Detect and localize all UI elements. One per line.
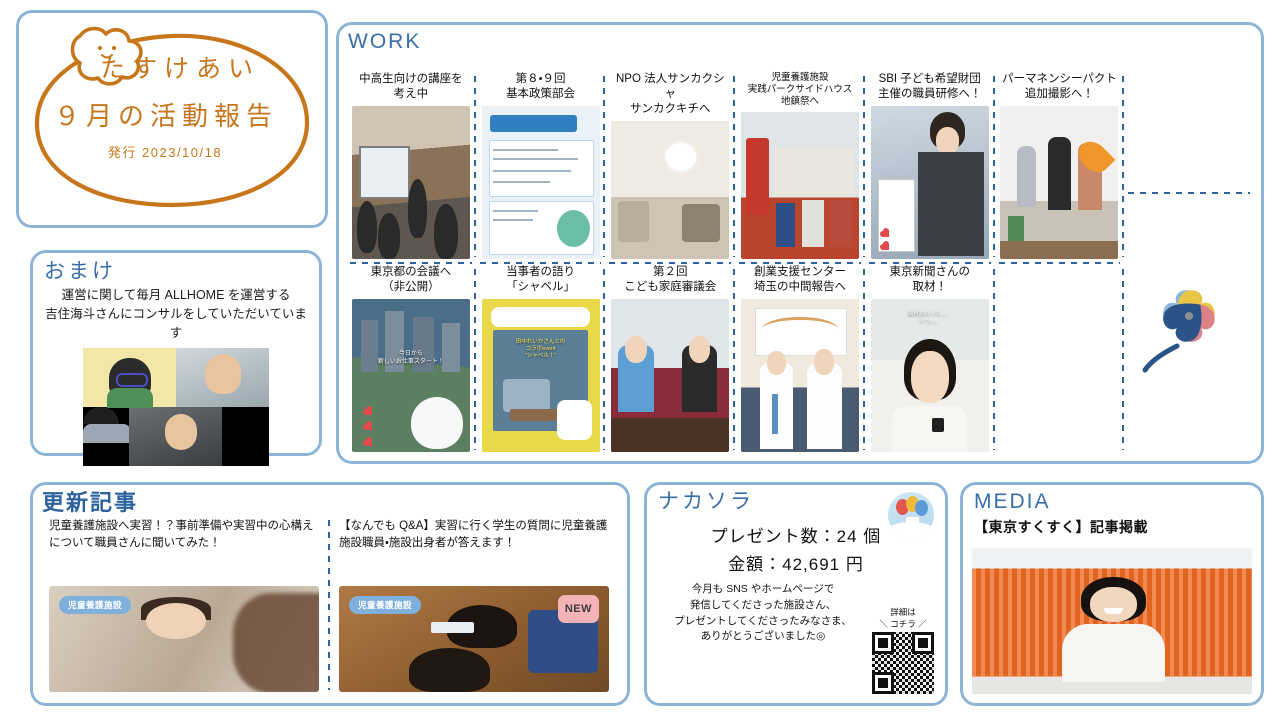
note-line: プレゼントしてくださったみなさま、 xyxy=(656,614,870,630)
media-interview-photo xyxy=(972,548,1252,694)
cafe-meeting-photo xyxy=(611,299,729,452)
note-line: 今月も SNS やホームページで xyxy=(656,582,870,598)
article-text: 児童養護施設へ実習！？事前準備や実習中の心構えについて職員さんに聞いてみた！ xyxy=(49,518,321,551)
work-item[interactable]: NPO 法人サンカクシャサンカクキチへ xyxy=(605,70,735,263)
qr-code[interactable] xyxy=(872,632,934,694)
work-item-caption: 第８・９回基本政策部会 xyxy=(506,72,575,102)
note-line: ありがとうございました◎ xyxy=(656,629,870,645)
work-item-caption: 東京都の会議へ（非公開） xyxy=(371,265,452,295)
amount-line: 金額：42,691 円 xyxy=(656,550,936,575)
qr-label-line: ＼ コチラ ／ xyxy=(870,619,936,630)
qr-label-line: 詳細は xyxy=(870,607,936,618)
newsletter-page: たすけあい ９月の活動報告 発行 2023/10/18 おまけ 運営に関して毎月… xyxy=(0,0,1280,720)
work-item-caption: パーマネンシーパクト追加撮影へ！ xyxy=(1002,72,1117,102)
tokyo-skyline-story: 今日から新しいお仕事スタート！ xyxy=(352,299,470,452)
media-panel: MEDIA 【東京すくすく】記事掲載 xyxy=(960,482,1264,706)
groundbreaking-ceremony-photo xyxy=(741,112,859,259)
saitama-report-photo xyxy=(741,299,859,452)
staff-training-photo xyxy=(871,106,989,259)
title-bubble xyxy=(24,24,316,214)
work-item-caption: 中高生向けの講座を考え中 xyxy=(359,72,463,102)
work-item[interactable]: 創業支援センター埼玉の中間報告へ xyxy=(735,263,865,456)
omake-body-line-2: 吉住海斗さんにコンサルをしていただいています xyxy=(42,305,310,343)
work-item-caption: 東京新聞さんの取材！ xyxy=(889,265,970,295)
work-item-caption: 当事者の語り「シャベル」 xyxy=(506,265,575,295)
balloon-gift-icon xyxy=(888,492,934,538)
title-panel: たすけあい ９月の活動報告 発行 2023/10/18 xyxy=(16,10,328,228)
tokyo-shimbun-interview-photo: 取材おわった、、、ふぅ、、、 xyxy=(871,299,989,452)
work-item-caption: 創業支援センター埼玉の中間報告へ xyxy=(754,265,846,295)
work-item[interactable]: 中高生向けの講座を考え中 xyxy=(346,70,476,263)
policy-document-screenshot xyxy=(482,106,600,259)
work-item[interactable]: パーマネンシーパクト追加撮影へ！ xyxy=(995,70,1125,263)
work-item-caption: NPO 法人サンカクシャサンカクキチへ xyxy=(610,72,730,117)
work-item[interactable]: 児童養護施設実践パークサイドハウス地鎮祭へ xyxy=(735,70,865,263)
work-item-caption: 児童養護施設実践パークサイドハウス地鎮祭へ xyxy=(748,72,853,108)
article-text: 【なんでも Q&A】実習に行く学生の質問に児童養護施設職員・施設出身者が答えます… xyxy=(339,518,611,551)
kiji-heading: 更新記事 xyxy=(42,490,620,515)
note-line: 発信してくださった施設さん、 xyxy=(656,598,870,614)
article-thumb-girl-photo: 児童養護施設 xyxy=(49,586,319,692)
article-tag: 児童養護施設 xyxy=(349,596,421,614)
nakasora-panel: ナカソラ プレゼント数：24 個 金額：42,691 円 今月も SNS やホー… xyxy=(644,482,948,706)
work-panel: WORK 中高生向けの講座を考え中 第８・ xyxy=(336,22,1264,464)
qr-block[interactable]: 詳細は ＼ コチラ ／ xyxy=(870,607,936,694)
clover-logo xyxy=(1124,193,1254,456)
shaberu-collab-story: 田中れいかさんとのコラボevent"シャベル！" xyxy=(482,299,600,452)
new-badge: NEW xyxy=(558,595,599,623)
work-item[interactable]: 第２回こども家庭審議会 xyxy=(605,263,735,456)
work-item-caption: SBI 子ども希望財団主催の職員研修へ！ xyxy=(878,72,982,102)
article-card[interactable]: 児童養護施設へ実習！？事前準備や実習中の心構えについて職員さんに聞いてみた！ 児… xyxy=(40,518,330,692)
classroom-lecture-photo xyxy=(352,106,470,259)
media-subtitle: 【東京すくすく】記事掲載 xyxy=(974,517,1252,537)
work-item[interactable]: 東京新聞さんの取材！ 取材おわった、、、ふぅ、、、 xyxy=(865,263,995,456)
work-item-empty xyxy=(995,263,1125,456)
kiji-columns: 児童養護施設へ実習！？事前準備や実習中の心構えについて職員さんに聞いてみた！ 児… xyxy=(40,518,620,692)
zoom-meeting-screenshot xyxy=(83,348,269,466)
article-tag: 児童養護施設 xyxy=(59,596,131,614)
work-item[interactable]: 第８・９回基本政策部会 xyxy=(476,70,606,263)
sankakukichi-interior-photo xyxy=(611,121,729,259)
article-thumb-drawing-photo: 児童養護施設 NEW xyxy=(339,586,609,692)
article-card[interactable]: 【なんでも Q&A】実習に行く学生の質問に児童養護施設職員・施設出身者が答えます… xyxy=(330,518,620,692)
work-item[interactable]: 当事者の語り「シャベル」 田中れいかさんとのコラボevent"シャベル！" xyxy=(476,263,606,456)
omake-body: 運営に関して毎月 ALLHOME を運営する 吉住海斗さんにコンサルをしていただ… xyxy=(42,286,310,342)
omake-body-line-1: 運営に関して毎月 ALLHOME を運営する xyxy=(42,286,310,305)
permanency-pact-photo xyxy=(1000,106,1118,259)
omake-panel: おまけ 運営に関して毎月 ALLHOME を運営する 吉住海斗さんにコンサルをし… xyxy=(30,250,322,456)
omake-heading: おまけ xyxy=(44,260,310,284)
work-item[interactable]: SBI 子ども希望財団主催の職員研修へ！ xyxy=(865,70,995,263)
work-heading: WORK xyxy=(348,30,1254,53)
work-item-caption: 第２回こども家庭審議会 xyxy=(624,265,716,295)
media-heading: MEDIA xyxy=(974,490,1252,513)
work-item[interactable]: 東京都の会議へ（非公開） 今日から新しいお仕事スタート！ xyxy=(346,263,476,456)
work-grid: 中高生向けの講座を考え中 第８・９回基本政策部会 xyxy=(346,70,1254,456)
kiji-panel: 更新記事 児童養護施設へ実習！？事前準備や実習中の心構えについて職員さんに聞いて… xyxy=(30,482,630,706)
